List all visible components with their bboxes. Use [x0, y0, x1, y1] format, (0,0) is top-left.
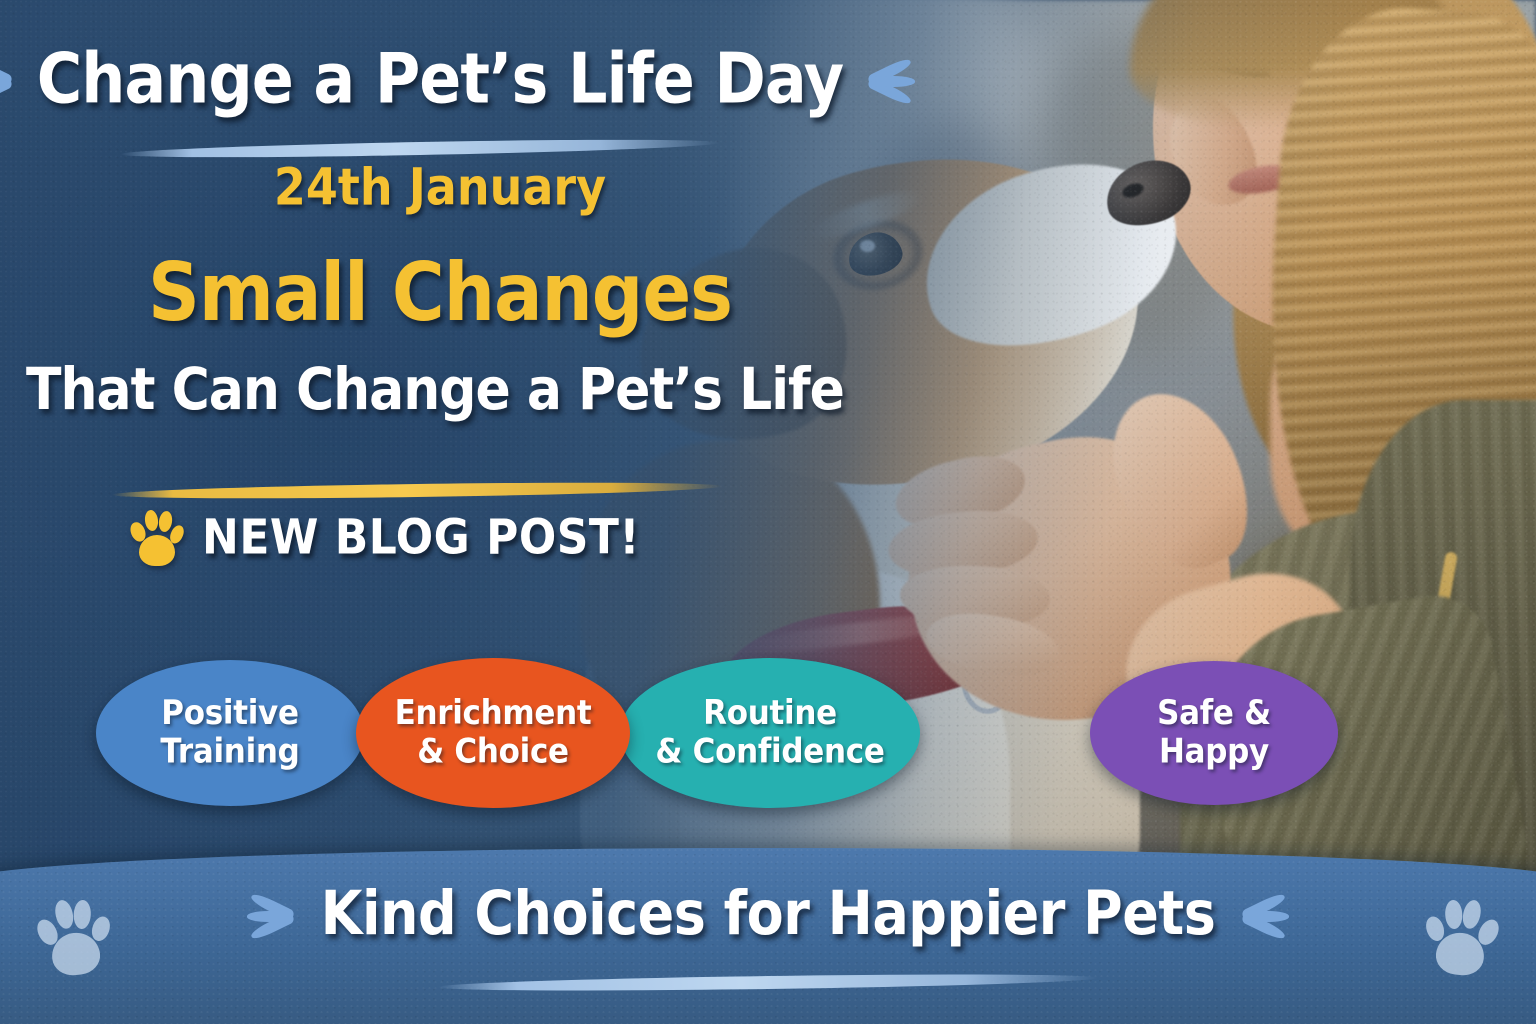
badge-line-2: & Choice: [407, 732, 579, 772]
badge-line-2: Training: [150, 732, 309, 772]
badge-safe-happy[interactable]: Safe &Happy: [1090, 661, 1338, 805]
subheadline: That Can Change a Pet’s Life: [20, 356, 850, 423]
badge-line-1: Positive: [151, 694, 308, 734]
event-date: 24th January: [40, 157, 840, 216]
subheadline-underline-stroke: [112, 480, 722, 502]
badge-line-2: Happy: [1149, 732, 1279, 772]
badge-positive-training[interactable]: PositiveTraining: [96, 660, 364, 806]
sparkle-fan-icon: [0, 51, 17, 107]
badge-line-1: Enrichment: [385, 694, 602, 734]
new-blog-post-row: NEW BLOG POST!: [130, 506, 640, 568]
paw-print-icon: [1422, 890, 1502, 981]
bottom-banner: Kind Choices for Happier Pets: [0, 848, 1536, 1024]
sparkle-fan-icon: [243, 886, 299, 942]
sparkle-fan-icon: [863, 51, 919, 107]
badge-line-1: Safe &: [1147, 694, 1281, 734]
paw-print-icon: [130, 506, 184, 568]
new-blog-post-label: NEW BLOG POST!: [202, 509, 640, 565]
title-row: Change a Pet’s Life Day: [40, 42, 840, 115]
poster-canvas: Change a Pet’s Life Day 24th January Sma…: [0, 0, 1536, 1024]
banner-text-row: Kind Choices for Happier Pets: [0, 882, 1536, 945]
badge-line-1: Routine: [693, 694, 847, 734]
badge-routine-confidence[interactable]: Routine& Confidence: [620, 658, 920, 808]
poster-content: Change a Pet’s Life Day 24th January Sma…: [0, 0, 1536, 1024]
topic-badges: PositiveTraining Enrichment& Choice Rout…: [96, 658, 1338, 808]
page-title: Change a Pet’s Life Day: [37, 38, 843, 120]
badge-enrichment-choice[interactable]: Enrichment& Choice: [356, 658, 630, 808]
badge-line-2: & Confidence: [645, 732, 894, 772]
banner-tagline: Kind Choices for Happier Pets: [321, 878, 1216, 949]
headline: Small Changes: [40, 245, 840, 339]
sparkle-fan-icon: [1237, 886, 1293, 942]
